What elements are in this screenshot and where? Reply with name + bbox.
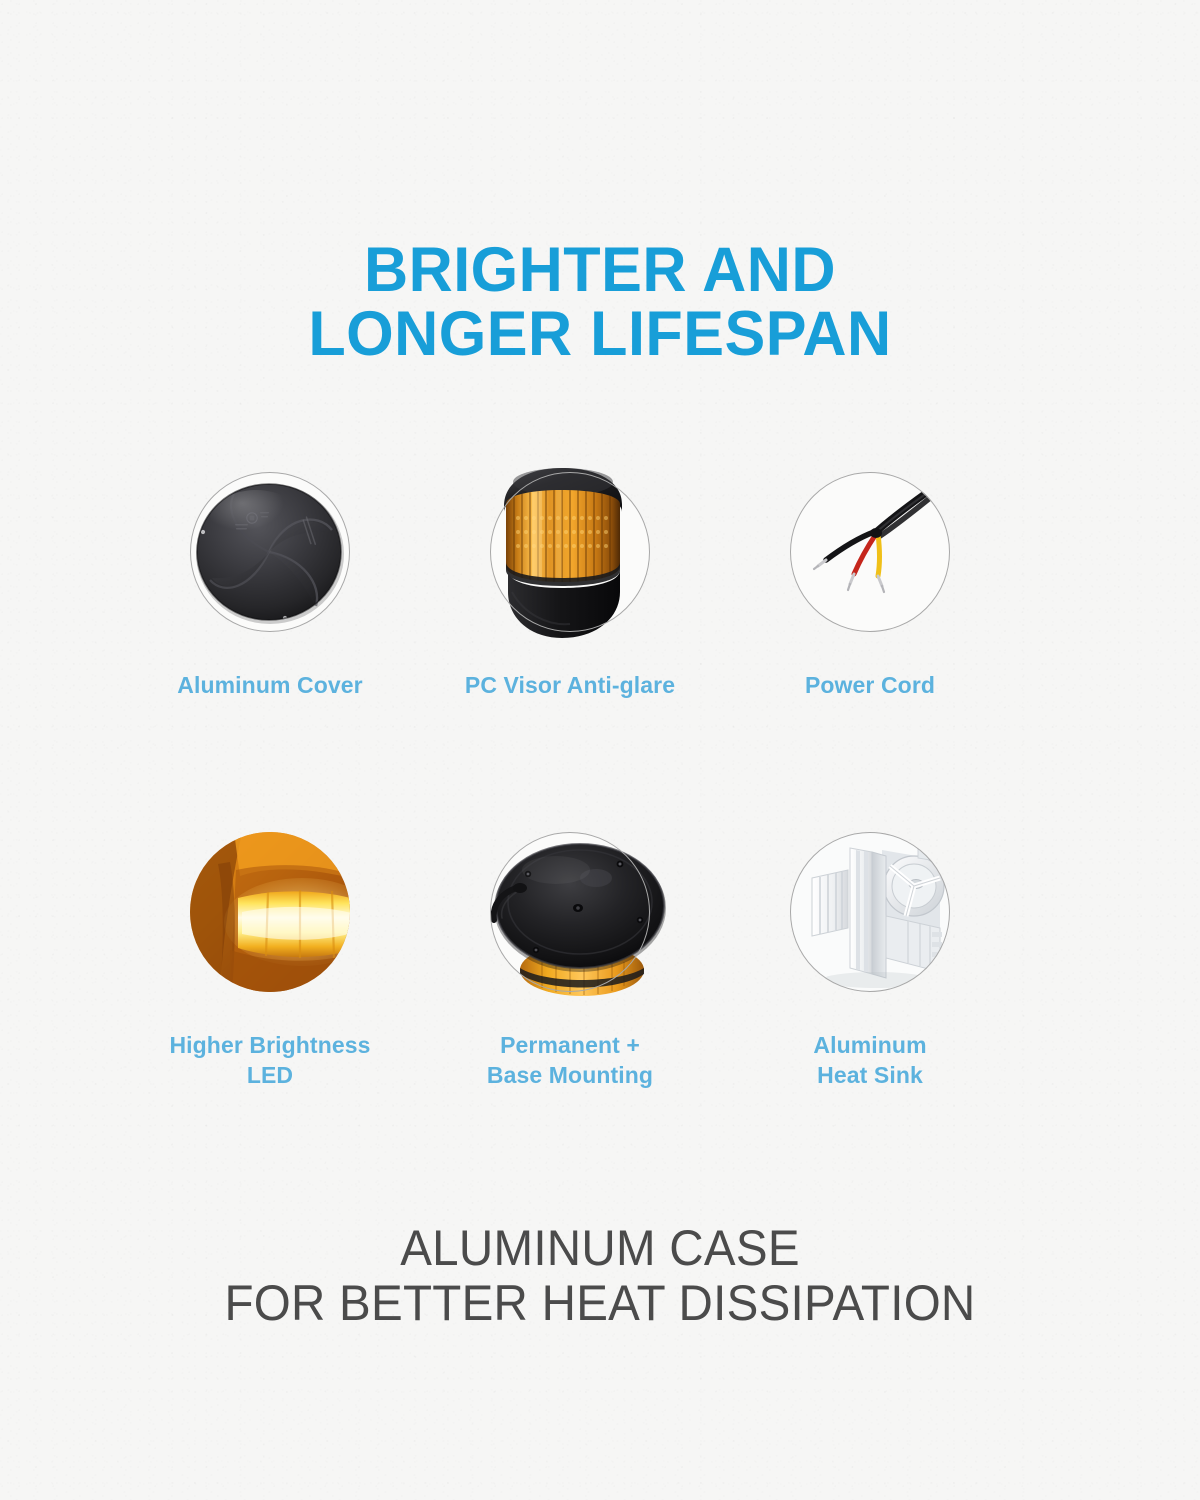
headline-line-2: LONGER LIFESPAN xyxy=(18,302,1182,366)
feature-label: Aluminum Cover xyxy=(177,670,362,700)
feature-higher-brightness-led[interactable]: Higher Brightness LED xyxy=(120,822,420,1090)
footer-caption-line-1: ALUMINUM CASE xyxy=(30,1221,1170,1276)
feature-label-line: Heat Sink xyxy=(813,1060,926,1090)
page-title: BRIGHTER AND LONGER LIFESPAN xyxy=(18,238,1182,366)
aluminum-cover-thumbnail xyxy=(190,472,350,632)
headline-line-1: BRIGHTER AND xyxy=(18,238,1182,302)
feature-label-line: Higher Brightness xyxy=(169,1030,370,1060)
illuminated-amber-led-photo xyxy=(190,832,350,992)
feature-permanent-base-mounting[interactable]: Permanent + Base Mounting xyxy=(420,822,720,1090)
feature-label: Permanent + Base Mounting xyxy=(487,1030,653,1090)
feature-label: PC Visor Anti-glare xyxy=(465,670,675,700)
feature-label-line: Permanent + xyxy=(487,1030,653,1060)
footer-caption: ALUMINUM CASE FOR BETTER HEAT DISSIPATIO… xyxy=(30,1221,1170,1331)
feature-aluminum-heat-sink[interactable]: Aluminum Heat Sink xyxy=(720,822,1020,1090)
feature-row-top: Aluminum Cover xyxy=(120,462,1080,700)
feature-grid: Aluminum Cover xyxy=(120,462,1080,1090)
footer-caption-line-2: FOR BETTER HEAT DISSIPATION xyxy=(30,1276,1170,1331)
feature-label: Higher Brightness LED xyxy=(169,1030,370,1090)
feature-label-line: Base Mounting xyxy=(487,1060,653,1090)
feature-label: Aluminum Heat Sink xyxy=(813,1030,926,1090)
pc-visor-thumbnail xyxy=(490,472,650,632)
feature-power-cord[interactable]: Power Cord xyxy=(720,462,1020,700)
thumbnail-wrap xyxy=(475,822,665,1012)
feature-label-line: PC Visor Anti-glare xyxy=(465,670,675,700)
thumbnail-wrap xyxy=(775,462,965,652)
feature-label-line: Aluminum Cover xyxy=(177,670,362,700)
thumbnail-wrap xyxy=(175,822,365,1012)
infographic-page: BRIGHTER AND LONGER LIFESPAN xyxy=(0,0,1200,1500)
feature-label-line: Aluminum xyxy=(813,1030,926,1060)
thumbnail-wrap xyxy=(475,462,665,652)
base-mounting-thumbnail xyxy=(490,832,650,992)
thumbnail-wrap xyxy=(775,822,965,1012)
higher-brightness-led-thumbnail xyxy=(190,832,350,992)
thumbnail-wrap xyxy=(175,462,365,652)
aluminum-cover-photo xyxy=(190,472,350,632)
feature-pc-visor-anti-glare[interactable]: PC Visor Anti-glare xyxy=(420,462,720,700)
feature-aluminum-cover[interactable]: Aluminum Cover xyxy=(120,462,420,700)
feature-label: Power Cord xyxy=(805,670,935,700)
feature-label-line: Power Cord xyxy=(805,670,935,700)
feature-label-line: LED xyxy=(169,1060,370,1090)
feature-row-bottom: Higher Brightness LED xyxy=(120,822,1080,1090)
three-wire-power-cord-photo xyxy=(790,472,950,632)
power-cord-thumbnail xyxy=(790,472,950,632)
aluminum-heat-sink-thumbnail xyxy=(790,832,950,992)
aluminum-extrusion-heatsink-photo xyxy=(790,832,950,992)
